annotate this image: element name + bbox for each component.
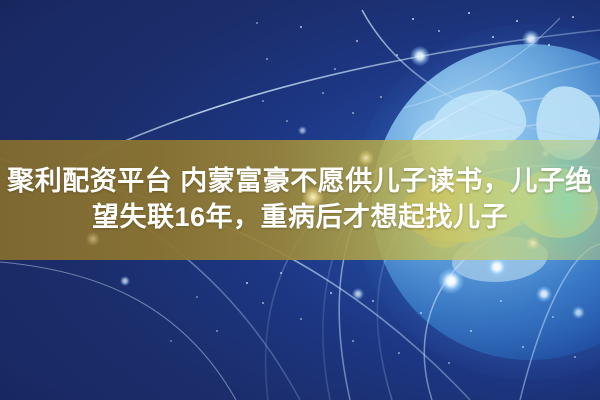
headline-line-1: 聚利配资平台 内蒙富豪不愿供儿子读书，儿子绝 (7, 166, 593, 198)
headline-block: 聚利配资平台 内蒙富豪不愿供儿子读书，儿子绝 望失联16年，重病后才想起找儿子 (0, 140, 600, 260)
headline-line-2: 望失联16年，重病后才想起找儿子 (92, 202, 508, 234)
banner-image: 聚利配资平台 内蒙富豪不愿供儿子读书，儿子绝 望失联16年，重病后才想起找儿子 (0, 0, 600, 400)
